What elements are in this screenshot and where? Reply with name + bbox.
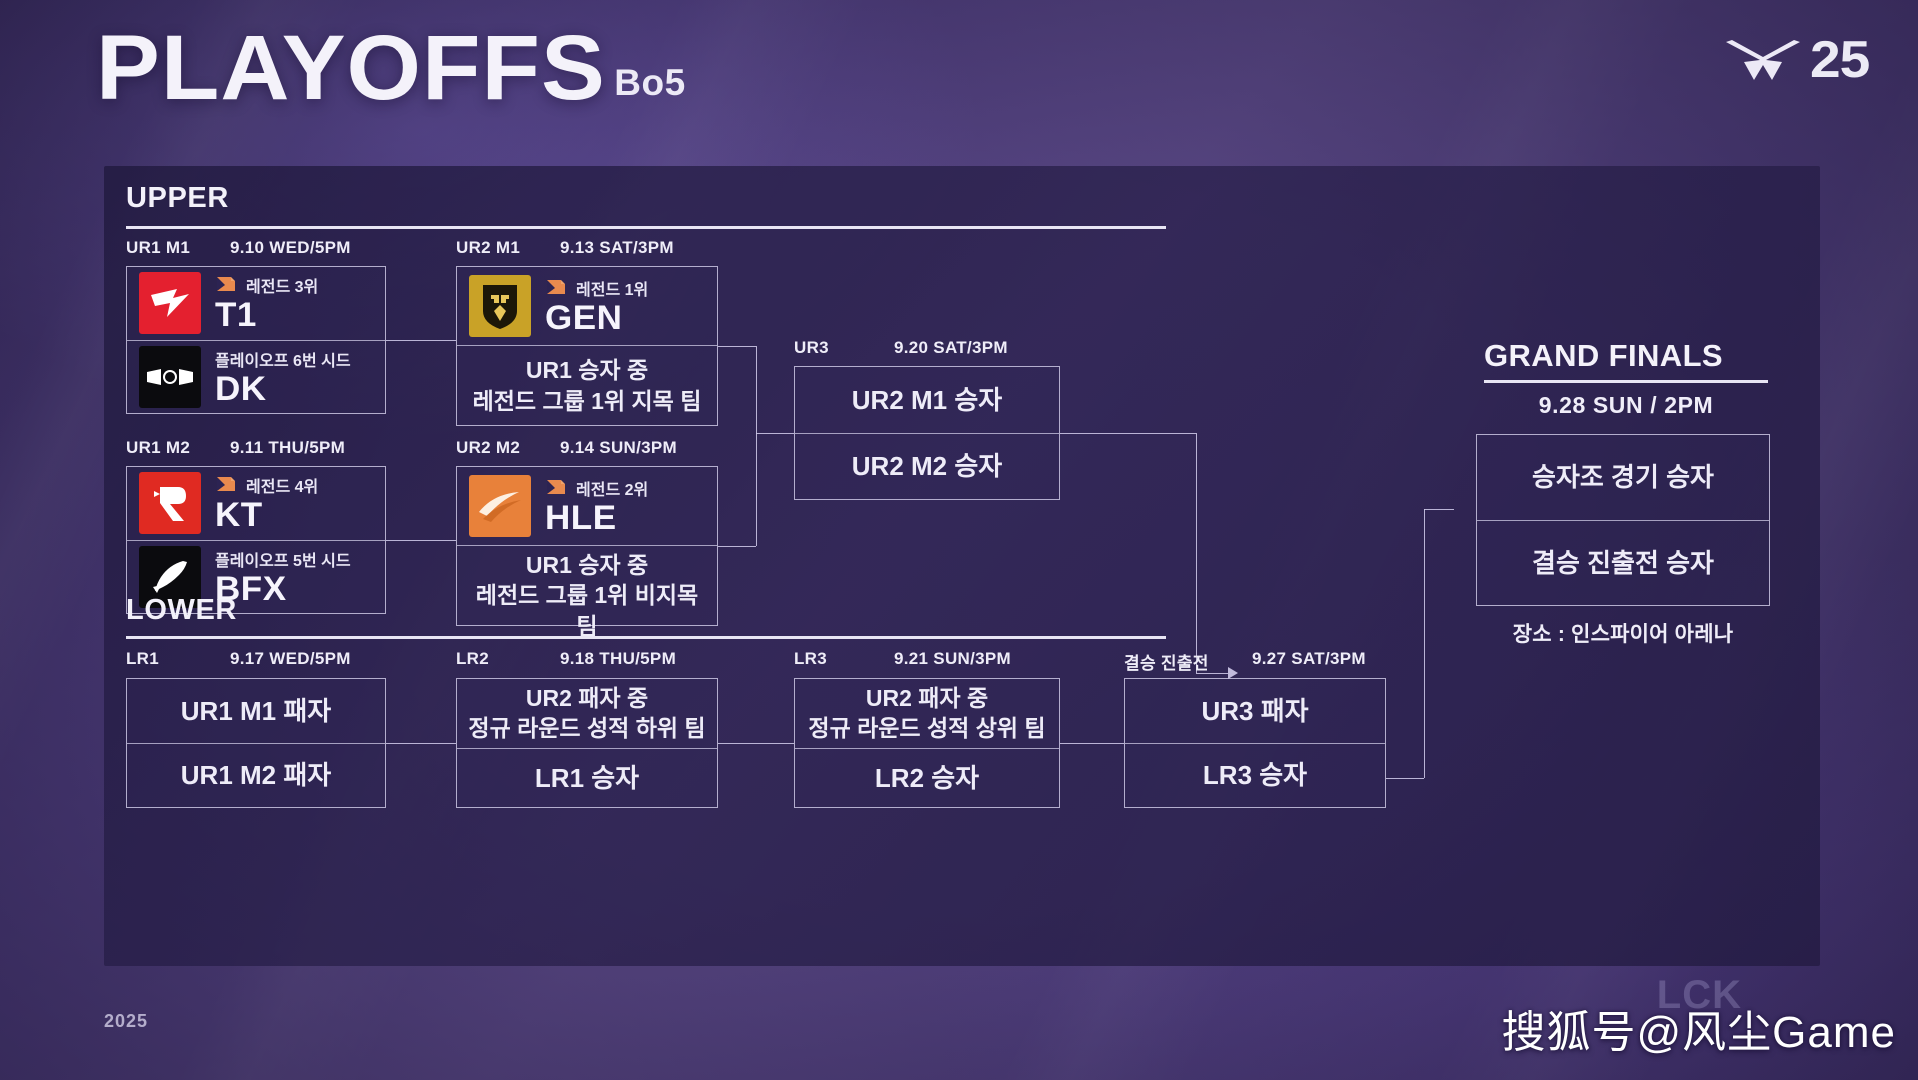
match-label-lr3: LR3 [794, 649, 827, 669]
match-label-ur3: UR3 [794, 338, 829, 358]
match-date-lrf: 9.27 SAT/3PM [1252, 649, 1366, 669]
gen-logo [469, 275, 531, 337]
match-label-lrf: 결승 진출전 [1124, 649, 1209, 674]
placeholder-row-ur3-bottom[interactable]: UR2 M2 승자 [795, 433, 1059, 500]
placeholder-row-lrf-bottom[interactable]: LR3 승자 [1125, 743, 1385, 808]
match-box-lr1[interactable]: UR1 M1 패자 UR1 M2 패자 [126, 678, 386, 808]
lower-section-rule [126, 636, 1166, 639]
connector-lrf-up [1424, 509, 1425, 778]
grand-finals-venue: 장소 : 인스파이어 아레나 [1476, 618, 1770, 648]
connector-ur2-to-ur3 [756, 433, 794, 434]
match-date-ur2m1: 9.13 SAT/3PM [560, 238, 674, 258]
team-row-gen[interactable]: 레전드 1위 GEN [457, 267, 717, 345]
placeholder-text: UR1 승자 중 레전드 그룹 1위 비지목 팀 [467, 550, 707, 641]
placeholder-text: UR1 M1 패자 [181, 694, 331, 728]
match-label-ur1m2: UR1 M2 [126, 438, 190, 458]
connector-ur1m1-ur2m1 [386, 340, 456, 341]
placeholder-text: 결승 진출전 승자 [1532, 546, 1714, 580]
connector-lrf-out [1386, 778, 1424, 779]
match-box-ur3[interactable]: UR2 M1 승자 UR2 M2 승자 [794, 366, 1060, 500]
connector-ur2m1-out [718, 346, 756, 347]
upper-section-title: UPPER [126, 182, 229, 215]
placeholder-text: UR2 M1 승자 [852, 383, 1002, 417]
placeholder-text: UR3 패자 [1201, 694, 1308, 728]
match-box-ur2m2[interactable]: 레전드 2위 HLE UR1 승자 중 레전드 그룹 1위 비지목 팀 [456, 466, 718, 626]
seed-flag-icon [215, 475, 239, 495]
match-date-ur3: 9.20 SAT/3PM [894, 338, 1008, 358]
team-seed-label: 플레이오프 6번 시드 [215, 347, 351, 371]
placeholder-text: UR2 패자 중 정규 라운드 성적 하위 팀 [468, 683, 705, 744]
match-box-ur1m1[interactable]: 레전드 3위 T1 플레이오프 6번 시드 DK [126, 266, 386, 414]
lck-wing-icon [1724, 36, 1802, 84]
match-box-ur1m2[interactable]: 레전드 4위 KT 플레이오프 5번 시드 BFX [126, 466, 386, 614]
team-row-hle[interactable]: 레전드 2위 HLE [457, 467, 717, 545]
match-date-ur1m2: 9.11 THU/5PM [230, 438, 345, 458]
placeholder-text: LR2 승자 [875, 761, 979, 795]
page-title: PLAYOFFS [96, 22, 606, 114]
connector-ur2m2-out [718, 546, 756, 547]
match-date-ur2m2: 9.14 SUN/3PM [560, 438, 677, 458]
placeholder-text: LR3 승자 [1203, 758, 1307, 792]
team-row-kt[interactable]: 레전드 4위 KT [127, 467, 385, 540]
match-box-lr2[interactable]: UR2 패자 중 정규 라운드 성적 하위 팀 LR1 승자 [456, 678, 718, 808]
match-date-lr2: 9.18 THU/5PM [560, 649, 676, 669]
team-seed-label: 레전드 3위 [246, 273, 318, 297]
match-label-ur1m1: UR1 M1 [126, 238, 190, 258]
connector-lr1-lr2 [386, 743, 456, 744]
placeholder-text: 승자조 경기 승자 [1532, 460, 1714, 494]
logo-year: 25 [1810, 30, 1869, 90]
team-seed-label: 레전드 2위 [576, 476, 648, 500]
lower-section-title: LOWER [126, 594, 237, 627]
team-seed-label: 플레이오프 5번 시드 [215, 547, 351, 571]
placeholder-row-lr1-top[interactable]: UR1 M1 패자 [127, 679, 385, 743]
team-seed-label: 레전드 4위 [246, 473, 318, 497]
match-date-ur1m1: 9.10 WED/5PM [230, 238, 351, 258]
page-header: PLAYOFFS Bo5 [96, 22, 686, 114]
hle-logo [469, 475, 531, 537]
match-label-lr2: LR2 [456, 649, 489, 669]
placeholder-text: UR2 M2 승자 [852, 449, 1002, 483]
match-box-lr3[interactable]: UR2 패자 중 정규 라운드 성적 상위 팀 LR2 승자 [794, 678, 1060, 808]
placeholder-row-ur2m2[interactable]: UR1 승자 중 레전드 그룹 1위 비지목 팀 [457, 545, 717, 645]
seed-flag-icon [215, 275, 239, 295]
seed-flag-icon [545, 478, 569, 498]
grand-finals-rule [1484, 380, 1768, 383]
seed-flag-icon [545, 278, 569, 298]
bracket-panel: UPPER UR1 M1 9.10 WED/5PM 레전드 3위 T1 [104, 166, 1820, 966]
connector-lr3-lrf [1060, 743, 1124, 744]
placeholder-row-lr1-bottom[interactable]: UR1 M2 패자 [127, 743, 385, 808]
team-name-gen: GEN [545, 301, 651, 336]
team-name-t1: T1 [215, 298, 321, 333]
placeholder-row-gf-top[interactable]: 승자조 경기 승자 [1477, 435, 1769, 520]
kt-logo [139, 472, 201, 534]
match-box-lrf[interactable]: UR3 패자 LR3 승자 [1124, 678, 1386, 808]
lck-logo: 25 [1724, 30, 1866, 90]
placeholder-text: UR2 패자 중 정규 라운드 성적 상위 팀 [808, 683, 1045, 744]
match-label-ur2m2: UR2 M2 [456, 438, 520, 458]
team-name-dk: DK [215, 372, 355, 407]
placeholder-text: LR1 승자 [535, 761, 639, 795]
source-watermark: 搜狐号@风尘Game [1502, 996, 1896, 1060]
connector-lr2-lr3 [718, 743, 794, 744]
placeholder-row-lr3-bottom[interactable]: LR2 승자 [795, 748, 1059, 807]
dk-logo [139, 346, 201, 408]
grand-finals-date: 9.28 SUN / 2PM [1484, 392, 1768, 419]
match-box-grand-finals[interactable]: 승자조 경기 승자 결승 진출전 승자 [1476, 434, 1770, 606]
format-label: Bo5 [614, 62, 685, 114]
connector-ur3-down [1196, 433, 1197, 673]
team-seed-label: 레전드 1위 [576, 276, 648, 300]
match-date-lr1: 9.17 WED/5PM [230, 649, 351, 669]
team-name-hle: HLE [545, 501, 651, 536]
connector-ur1m2-ur2m2 [386, 540, 456, 541]
placeholder-row-ur3-top[interactable]: UR2 M1 승자 [795, 367, 1059, 433]
team-row-t1[interactable]: 레전드 3위 T1 [127, 267, 385, 340]
match-date-lr3: 9.21 SUN/3PM [894, 649, 1011, 669]
placeholder-text: UR1 승자 중 레전드 그룹 1위 지목 팀 [473, 355, 702, 416]
connector-ur2-merge [756, 346, 757, 546]
team-name-kt: KT [215, 498, 321, 533]
team-row-dk[interactable]: 플레이오프 6번 시드 DK [127, 340, 385, 414]
connector-ur3-out [1060, 433, 1196, 434]
grand-finals-title: GRAND FINALS [1484, 338, 1723, 374]
t1-logo [139, 272, 201, 334]
placeholder-row-lr2-top[interactable]: UR2 패자 중 정규 라운드 성적 하위 팀 [457, 679, 717, 748]
placeholder-row-gf-bottom[interactable]: 결승 진출전 승자 [1477, 520, 1769, 606]
upper-section-rule [126, 226, 1166, 229]
match-label-ur2m1: UR2 M1 [456, 238, 520, 258]
placeholder-row-lrf-top[interactable]: UR3 패자 [1125, 679, 1385, 743]
match-box-ur2m1[interactable]: 레전드 1위 GEN UR1 승자 중 레전드 그룹 1위 지목 팀 [456, 266, 718, 426]
placeholder-row-lr3-top[interactable]: UR2 패자 중 정규 라운드 성적 상위 팀 [795, 679, 1059, 748]
connector-lrf-to-gf [1424, 509, 1454, 510]
match-label-lr1: LR1 [126, 649, 159, 669]
placeholder-text: UR1 M2 패자 [181, 758, 331, 792]
placeholder-row-ur2m1[interactable]: UR1 승자 중 레전드 그룹 1위 지목 팀 [457, 345, 717, 425]
placeholder-row-lr2-bottom[interactable]: LR1 승자 [457, 748, 717, 807]
footer-year: 2025 [104, 1011, 148, 1032]
